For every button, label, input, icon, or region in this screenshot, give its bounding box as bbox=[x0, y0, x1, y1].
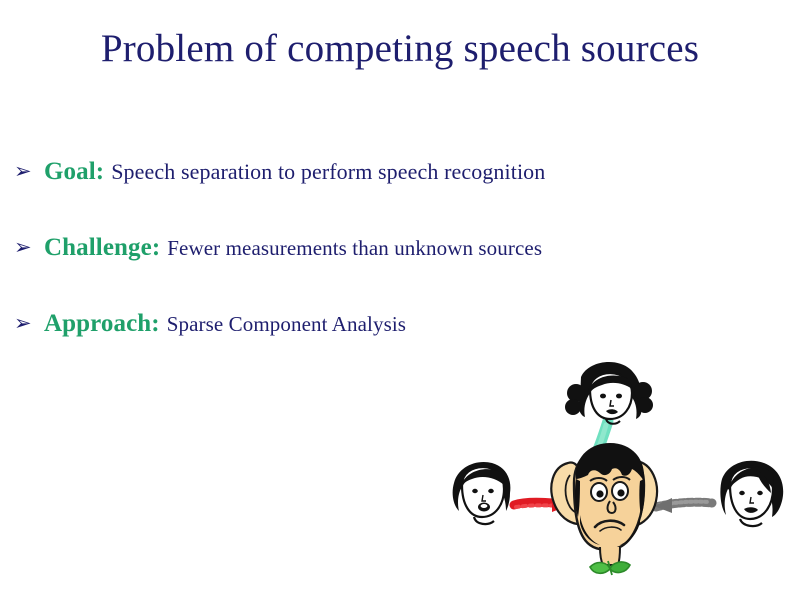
bullet-label-approach: Approach: bbox=[44, 310, 167, 338]
bullet-text-goal: Speech separation to perform speech reco… bbox=[111, 159, 545, 185]
bullet-arrow-icon: ➢ bbox=[14, 161, 44, 182]
bullet-arrow-icon: ➢ bbox=[14, 313, 44, 334]
bullet-arrow-icon: ➢ bbox=[14, 237, 44, 258]
list-item: ➢ Approach: Sparse Component Analysis bbox=[14, 310, 734, 338]
bullet-label-goal: Goal: bbox=[44, 158, 111, 186]
bullet-label-challenge: Challenge: bbox=[44, 234, 167, 262]
listener-center-figure bbox=[551, 443, 657, 575]
stream-right-icon bbox=[654, 498, 712, 513]
speaker-left-figure bbox=[453, 462, 511, 524]
list-item: ➢ Goal: Speech separation to perform spe… bbox=[14, 158, 734, 186]
page-title: Problem of competing speech sources bbox=[0, 26, 800, 72]
speaker-top-figure bbox=[565, 362, 653, 424]
slide-canvas: Problem of competing speech sources ➢ Go… bbox=[0, 0, 800, 599]
bullet-text-approach: Sparse Component Analysis bbox=[167, 312, 406, 337]
bullet-text-challenge: Fewer measurements than unknown sources bbox=[167, 236, 542, 261]
list-item: ➢ Challenge: Fewer measurements than unk… bbox=[14, 234, 734, 262]
bullet-list: ➢ Goal: Speech separation to perform spe… bbox=[14, 158, 734, 338]
speaker-right-figure bbox=[720, 461, 783, 526]
competing-speech-sources-illustration bbox=[440, 355, 800, 585]
